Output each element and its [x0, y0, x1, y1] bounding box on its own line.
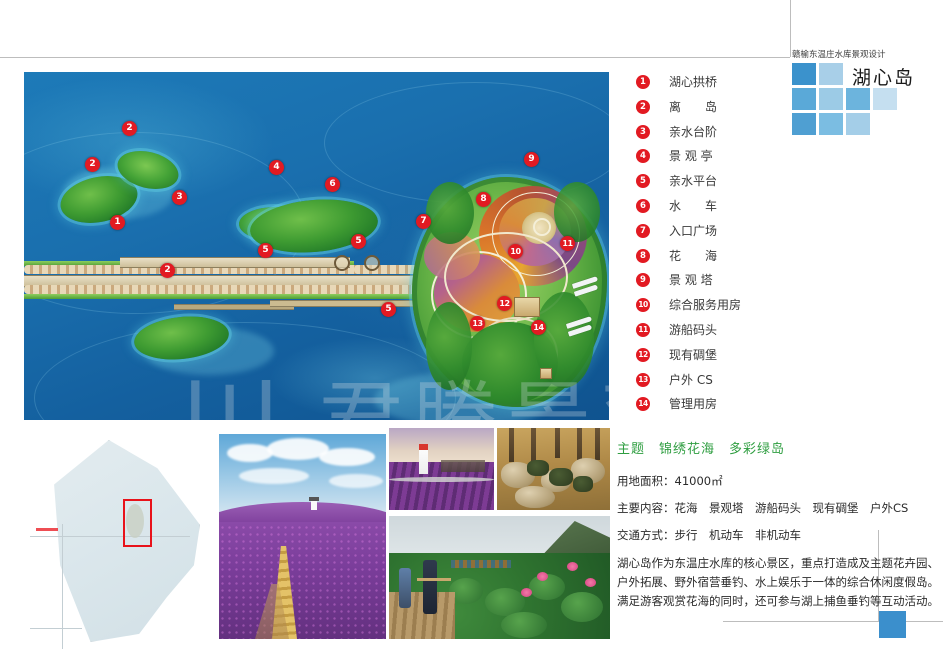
legend-number-badge: 9: [636, 273, 650, 287]
plan-marker-6: 6: [325, 177, 340, 192]
legend-item-5: 5亲水平台: [636, 171, 796, 196]
plan-marker-2: 2: [160, 263, 175, 278]
legend-item-label: 入口广场: [669, 222, 717, 239]
legend-list: 1湖心拱桥2离 岛3亲水台阶4景 观 亭5亲水平台6水 车7入口广场8花 海9景…: [636, 72, 796, 419]
plan-marker-2: 2: [85, 157, 100, 172]
legend-item-10: 10综合服务用房: [636, 295, 796, 320]
legend-item-label: 景 观 亭: [669, 147, 713, 164]
lotus-pond-boardwalk-photo: [389, 516, 610, 639]
swatch-8: [819, 113, 843, 135]
master-plan-rendering: 12223455567891011121314 川 君腾景观 LANDSCAPE…: [24, 72, 609, 420]
legend-item-label: 花 海: [669, 247, 717, 264]
legend-number-badge: 13: [636, 373, 650, 387]
plan-marker-5: 5: [258, 243, 273, 258]
plan-marker-3: 3: [172, 190, 187, 205]
legend-item-label: 户外 CS: [669, 371, 713, 388]
legend-number-badge: 12: [636, 348, 650, 362]
legend-number-badge: 8: [636, 249, 650, 263]
swatch-9: [846, 113, 870, 135]
legend-number-badge: 1: [636, 75, 650, 89]
info-row-traffic: 交通方式：步行 机动车 非机动车: [617, 527, 939, 543]
plan-marker-12: 12: [497, 296, 512, 311]
legend-item-6: 6水 车: [636, 196, 796, 221]
legend-item-label: 离 岛: [669, 98, 717, 115]
location-highlight-box: [123, 499, 152, 547]
legend-number-badge: 2: [636, 100, 650, 114]
legend-number-badge: 4: [636, 149, 650, 163]
legend-number-badge: 14: [636, 397, 650, 411]
lighthouse-lavender-field-photo: [389, 428, 494, 510]
plan-marker-2: 2: [122, 121, 137, 136]
plan-marker-4: 4: [269, 160, 284, 175]
guide-line-bottom: [723, 621, 943, 622]
legend-item-1: 1湖心拱桥: [636, 72, 796, 97]
outdoor-cs-paintball-photo: [497, 428, 610, 510]
legend-item-12: 12现有碉堡: [636, 345, 796, 370]
service-building: [514, 297, 540, 317]
plan-marker-13: 13: [470, 316, 485, 331]
legend-item-14: 14管理用房: [636, 394, 796, 419]
project-description: 湖心岛作为东温庄水库的核心景区，重点打造成及主题花卉园、户外拓展、野外宿营垂钓、…: [617, 554, 939, 611]
legend-number-badge: 11: [636, 323, 650, 337]
page-title: 湖心岛: [852, 63, 915, 90]
design-theme: 主题 锦绣花海 多彩绿岛: [617, 438, 939, 457]
legend-item-label: 游船码头: [669, 321, 717, 338]
lavender-field-boardwalk-photo: [219, 434, 386, 639]
legend-item-4: 4景 观 亭: [636, 146, 796, 171]
legend-item-label: 景 观 塔: [669, 271, 713, 288]
legend-item-label: 综合服务用房: [669, 296, 741, 313]
presentation-board: 赣榆东温庄水库景观设计 湖心岛: [0, 0, 943, 667]
legend-item-label: 亲水台阶: [669, 123, 717, 140]
legend-number-badge: 10: [636, 298, 650, 312]
legend-item-2: 2离 岛: [636, 97, 796, 122]
plan-marker-7: 7: [416, 214, 431, 229]
legend-item-13: 13户外 CS: [636, 370, 796, 395]
legend-item-label: 水 车: [669, 197, 717, 214]
plan-marker-5: 5: [351, 234, 366, 249]
plan-marker-1: 1: [110, 215, 125, 230]
legend-item-3: 3亲水台阶: [636, 122, 796, 147]
swatch-2: [819, 63, 843, 85]
legend-number-badge: 3: [636, 125, 650, 139]
plan-marker-10: 10: [508, 244, 523, 259]
header-block: 赣榆东温庄水库景观设计 湖心岛: [790, 50, 943, 140]
legend-item-9: 9景 观 塔: [636, 270, 796, 295]
swatch-6: [873, 88, 897, 110]
plan-marker-9: 9: [524, 152, 539, 167]
plan-marker-8: 8: [476, 192, 491, 207]
central-island: [404, 172, 609, 412]
plan-marker-5: 5: [381, 302, 396, 317]
info-row-content: 主要内容：花海 景观塔 游船码头 现有碉堡 户外CS: [617, 500, 939, 516]
swatch-5: [846, 88, 870, 110]
guide-line-top: [0, 57, 790, 58]
legend-item-11: 11游船码头: [636, 320, 796, 345]
guide-line-right: [790, 0, 791, 57]
legend-item-label: 亲水平台: [669, 172, 717, 189]
legend-item-8: 8花 海: [636, 246, 796, 271]
legend-number-badge: 5: [636, 174, 650, 188]
swatch-4: [819, 88, 843, 110]
project-subtitle: 赣榆东温庄水库景观设计: [792, 50, 886, 60]
legend-item-label: 管理用房: [669, 395, 717, 412]
legend-item-label: 现有碉堡: [669, 346, 717, 363]
legend-item-label: 湖心拱桥: [669, 73, 717, 90]
site-context-map: [20, 432, 215, 657]
visitor-figure: [399, 568, 411, 608]
legend-number-badge: 6: [636, 199, 650, 213]
plan-marker-14: 14: [531, 320, 546, 335]
info-row-area: 用地面积：41000㎡: [617, 473, 939, 489]
project-info: 主题 锦绣花海 多彩绿岛 用地面积：41000㎡ 主要内容：花海 景观塔 游船码…: [617, 438, 939, 611]
legend-item-7: 7入口广场: [636, 221, 796, 246]
plan-marker-11: 11: [560, 236, 575, 251]
corner-accent-square: [879, 611, 906, 638]
legend-number-badge: 7: [636, 224, 650, 238]
